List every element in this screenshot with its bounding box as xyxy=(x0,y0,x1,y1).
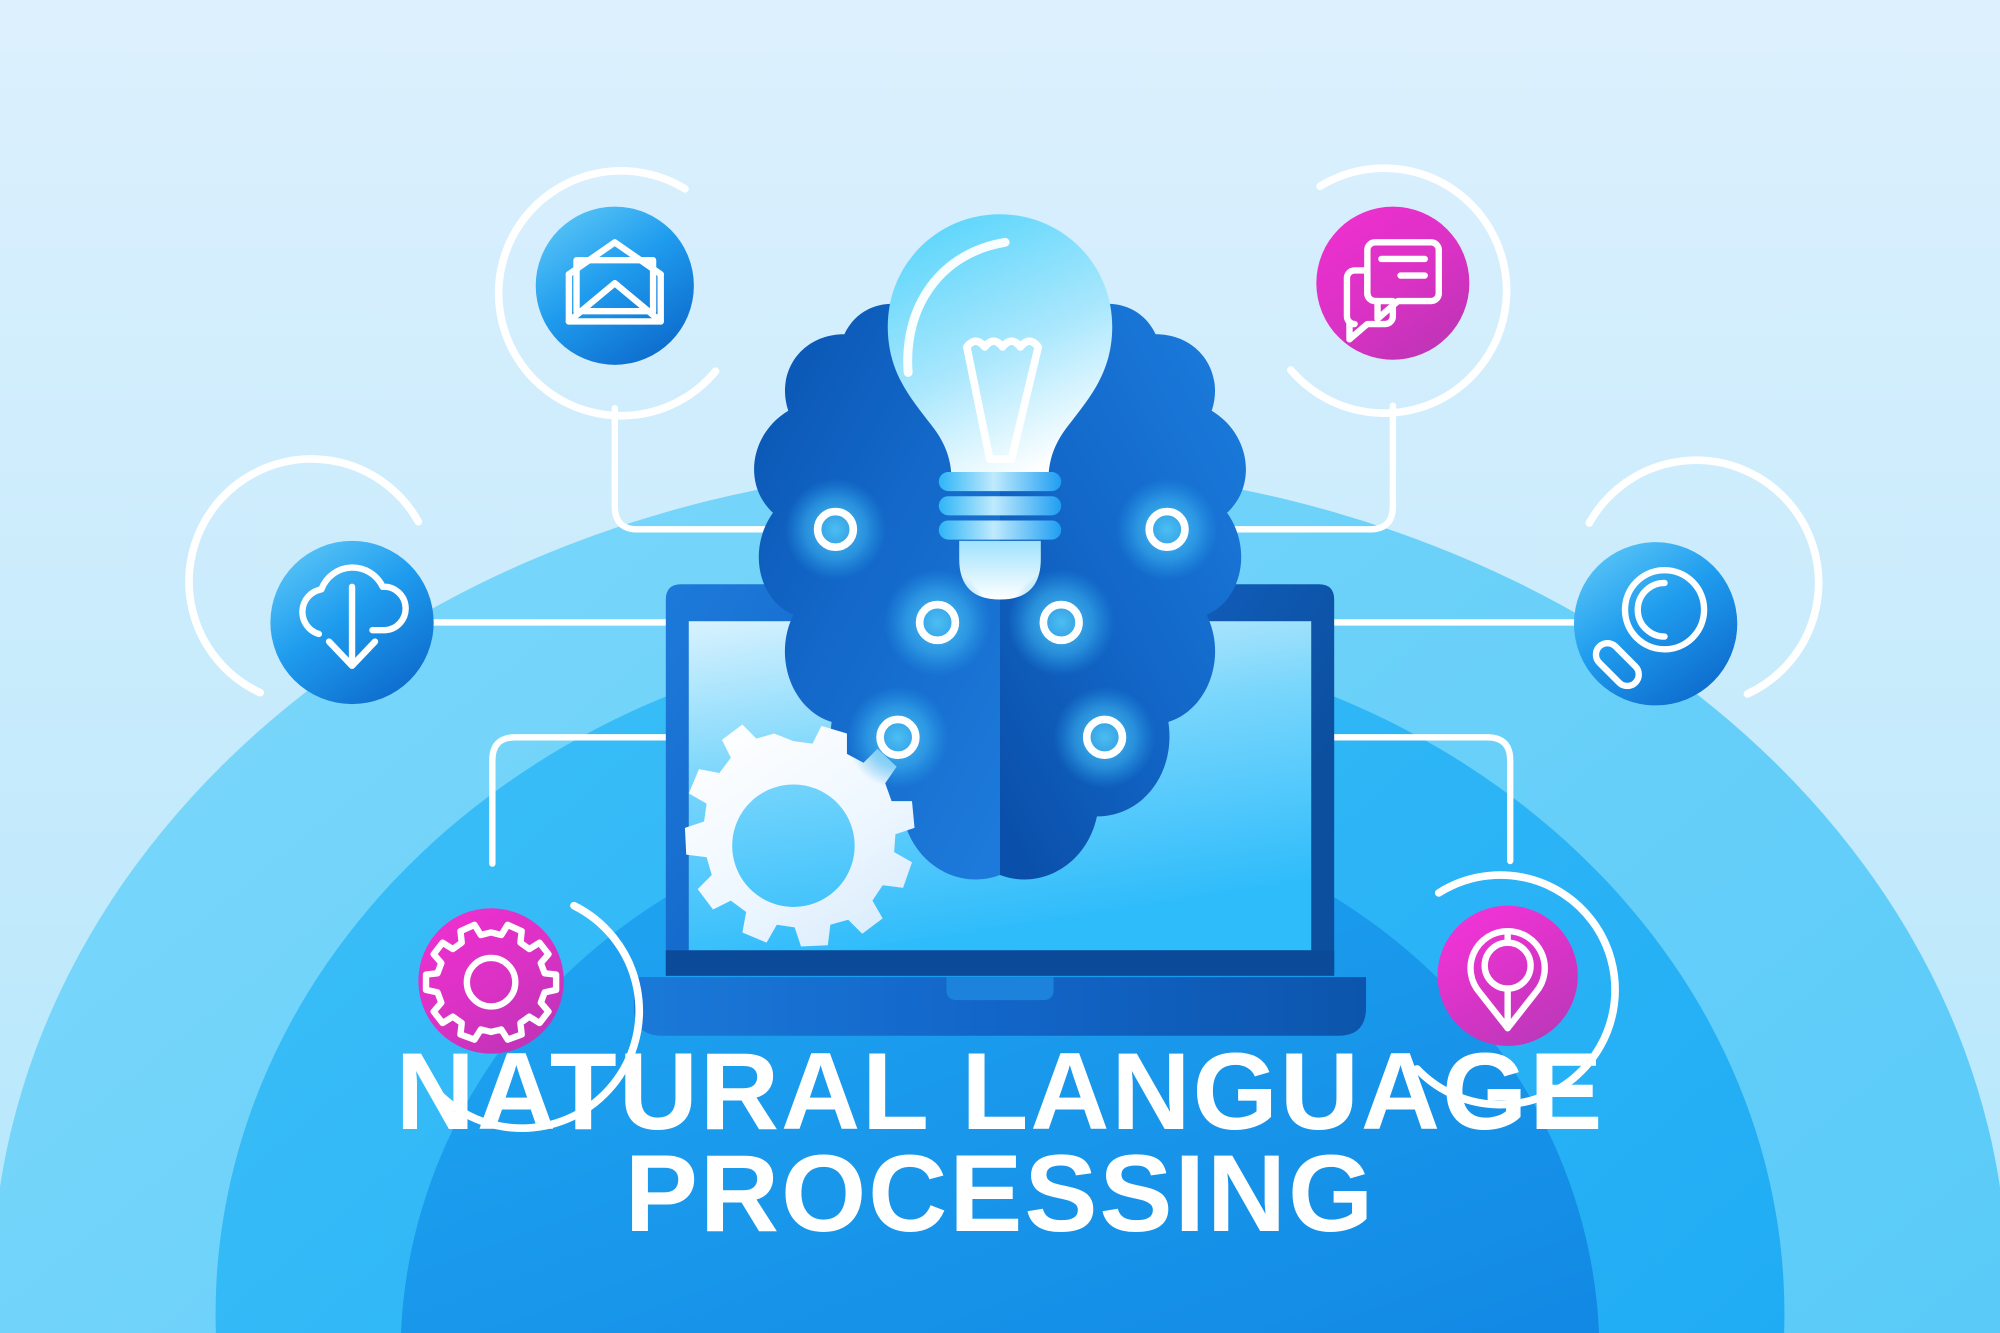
brain-node-low-left xyxy=(847,686,949,788)
laptop-trackpad-notch xyxy=(946,977,1053,1000)
search-icon-circle[interactable] xyxy=(1574,542,1737,705)
chat-icon-circle[interactable] xyxy=(1316,207,1469,360)
brain-node-mid-right xyxy=(1008,569,1115,676)
brain-node-mid-left xyxy=(884,569,991,676)
bulb-screw-base xyxy=(939,472,1061,540)
brain-node-top-right xyxy=(1116,478,1218,580)
illustration-canvas: NATURAL LANGUAGE PROCESSING xyxy=(0,0,2000,1333)
title-line-2: PROCESSING xyxy=(625,1133,1376,1255)
laptop-bezel-bottom xyxy=(666,950,1334,976)
nlp-infographic-svg: NATURAL LANGUAGE PROCESSING xyxy=(0,0,2000,1333)
brain-node-top-left xyxy=(784,478,886,580)
brain-node-low-right xyxy=(1054,686,1156,788)
